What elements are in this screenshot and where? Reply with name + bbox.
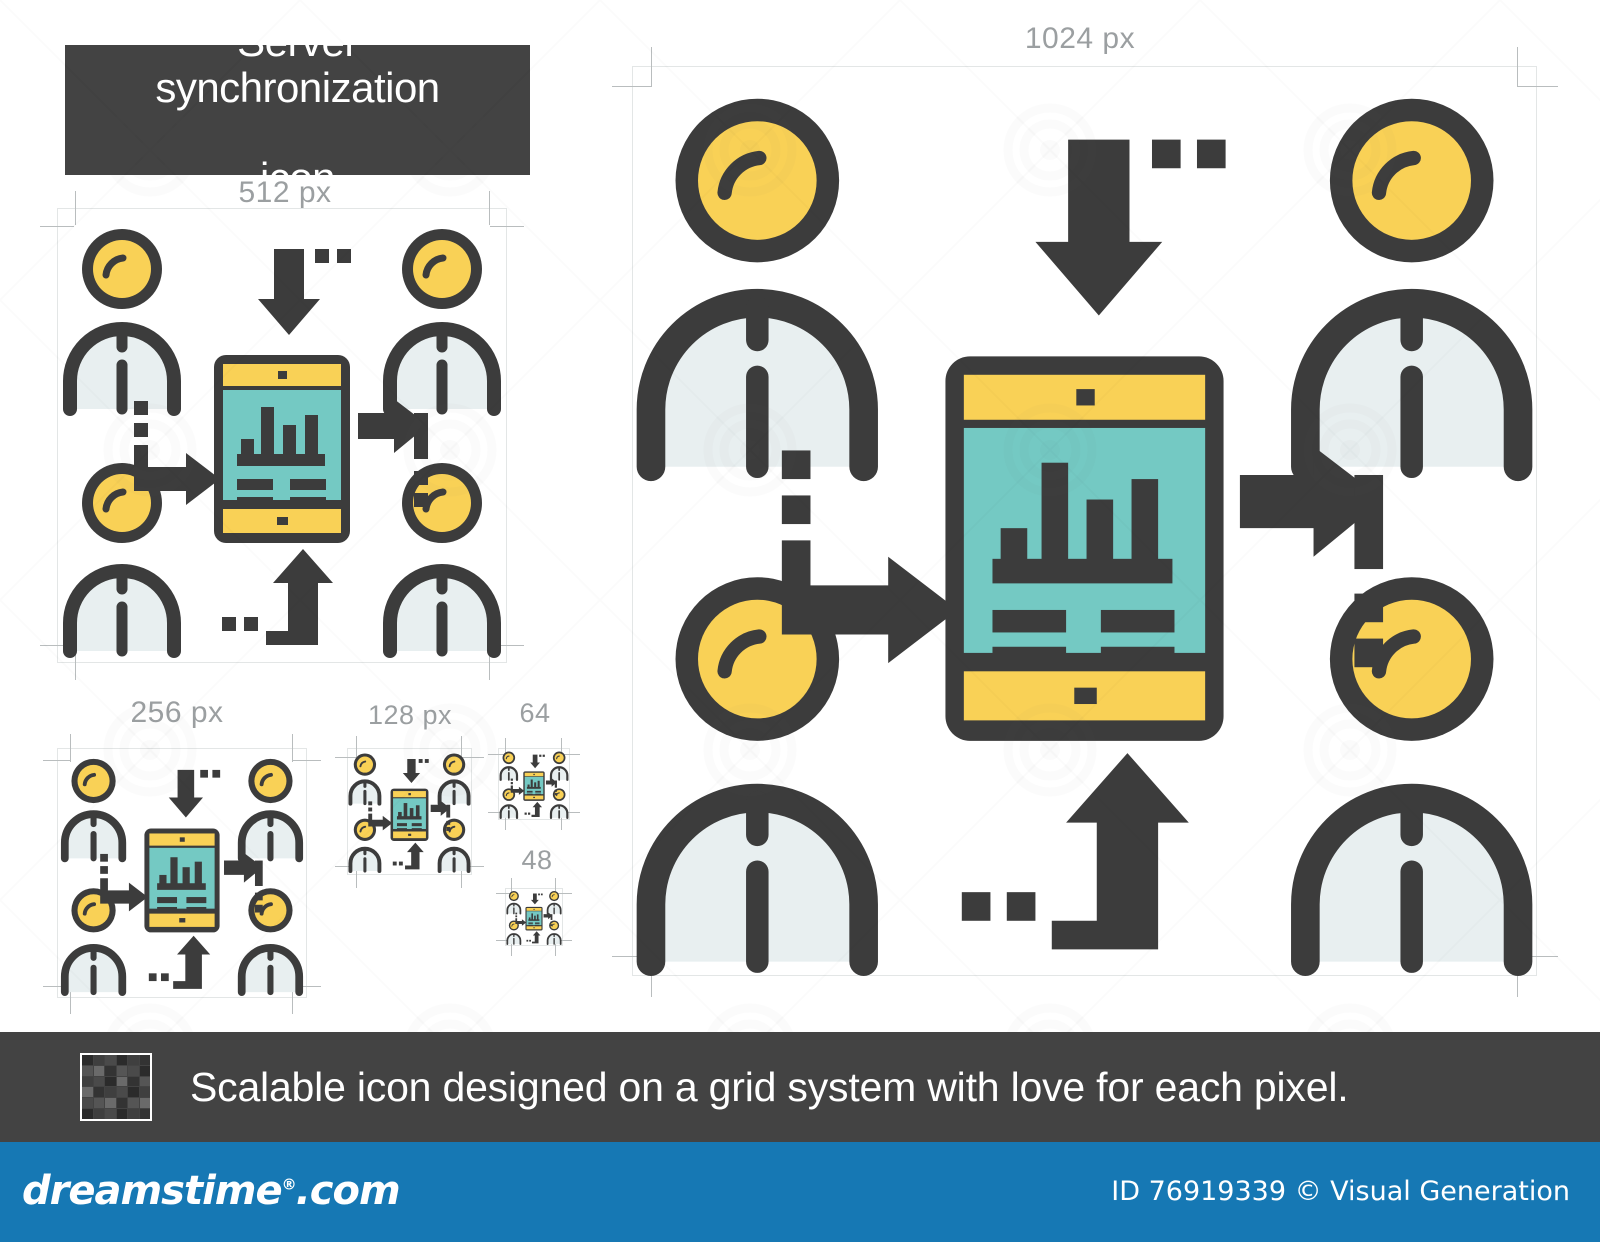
size-label-1024: 1024 px <box>620 22 1540 56</box>
icon-256 <box>58 750 306 996</box>
size-label-64: 64 <box>495 698 575 729</box>
icon-48 <box>506 889 562 945</box>
dreamstime-logo[interactable]: dreamstime®.com <box>22 1168 400 1214</box>
tagline-banner: Scalable icon designed on a grid system … <box>0 1032 1600 1142</box>
arrow-bottom <box>222 549 333 645</box>
logo-brand: dreamstime <box>22 1168 282 1214</box>
arrow-left <box>134 401 220 505</box>
person-top-right <box>390 229 494 409</box>
size-label-48: 48 <box>497 845 577 876</box>
icon-512 <box>62 213 502 658</box>
illustration-canvas: Server synchronization icon 512 px <box>0 0 1600 1242</box>
icon-1024 <box>632 66 1537 976</box>
tagline-text: Scalable icon designed on a grid system … <box>190 1064 1348 1111</box>
size-label-128: 128 px <box>335 700 485 731</box>
person-bottom-right <box>390 463 494 651</box>
tablet-device <box>214 355 350 543</box>
person-top-left <box>70 229 174 409</box>
pixel-grid-icon <box>80 1053 152 1121</box>
logo-suffix: .com <box>296 1168 400 1214</box>
image-credit: ID 76919339 © Visual Generation <box>1111 1176 1570 1207</box>
title-banner: Server synchronization icon <box>65 45 530 175</box>
footer-bar: dreamstime®.com ID 76919339 © Visual Gen… <box>0 1142 1600 1242</box>
size-label-256: 256 px <box>52 696 302 730</box>
icon-128 <box>348 749 471 873</box>
logo-registered-mark: ® <box>282 1176 296 1194</box>
title-line-1: Server synchronization <box>79 19 516 110</box>
size-label-512: 512 px <box>55 176 515 210</box>
person-bottom-left <box>70 463 174 651</box>
icon-64 <box>499 749 569 819</box>
arrow-top <box>258 249 351 335</box>
